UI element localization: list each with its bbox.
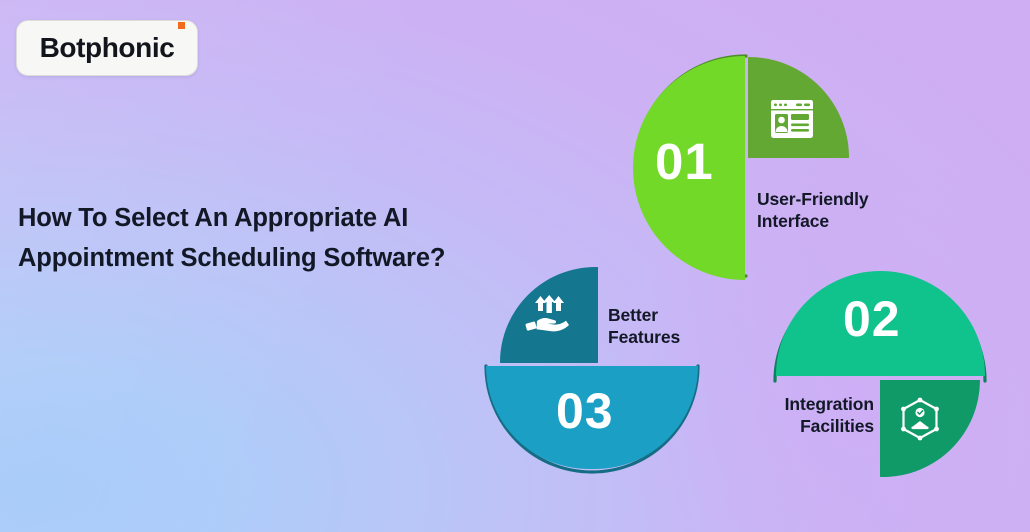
brand-logo-text: Botphonic: [40, 32, 175, 64]
step-02-caption: Integration Facilities: [716, 393, 874, 438]
integration-verified-icon: [898, 397, 942, 441]
step-01-number: 01: [655, 136, 714, 187]
hand-growth-arrows-icon: [524, 294, 572, 338]
brand-logo-badge[interactable]: Botphonic: [16, 20, 198, 76]
user-interface-icon: [768, 95, 816, 143]
brand-accent-dot-icon: [178, 22, 185, 29]
step-03-caption: Better Features: [608, 304, 680, 349]
step-01-caption: User-Friendly Interface: [757, 188, 869, 233]
step-02-number: 02: [843, 294, 901, 344]
page-title: How To Select An Appropriate AI Appointm…: [18, 198, 538, 279]
step-03-number: 03: [556, 386, 614, 436]
infographic-canvas: Botphonic How To Select An Appropriate A…: [0, 0, 1030, 532]
